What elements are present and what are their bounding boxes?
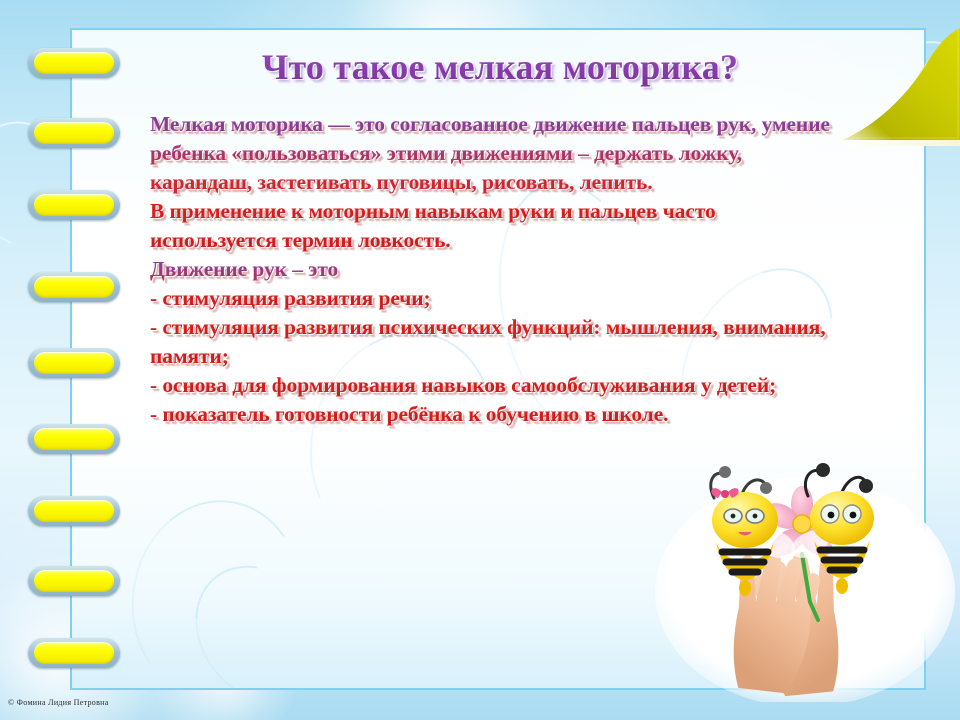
binder-ring-fill: [34, 52, 114, 74]
body-text-block: Мелкая моторика — это согласованное движ…: [150, 110, 830, 429]
binder-ring: [28, 566, 120, 596]
paragraph-definition: Мелкая моторика — это согласованное движ…: [150, 110, 830, 197]
binder-ring: [28, 496, 120, 526]
paragraph-dexterity: В применение к моторным навыкам руки и п…: [150, 197, 830, 255]
binder-ring-fill: [34, 428, 114, 450]
page-title: Что такое мелкая моторика?: [180, 46, 820, 88]
paragraph-bullet-psych: - стимуляция развития психических функци…: [150, 313, 830, 371]
binder-ring: [28, 272, 120, 302]
slide-canvas: Что такое мелкая моторика? Мелкая мотори…: [0, 0, 960, 720]
binder-ring-fill: [34, 352, 114, 374]
paragraph-bullet-school: - показатель готовности ребёнка к обучен…: [150, 400, 830, 429]
binder-ring-fill: [34, 276, 114, 298]
binder-ring-fill: [34, 642, 114, 664]
binder-ring: [28, 118, 120, 148]
binder-ring: [28, 190, 120, 220]
binder-ring-fill: [34, 570, 114, 592]
paragraph-bullet-selfcare: - основа для формирования навыков самооб…: [150, 371, 830, 400]
binder-ring: [28, 638, 120, 668]
binder-ring: [28, 48, 120, 78]
copyright-label: © Фомина Лидия Петровна: [8, 698, 109, 707]
binder-ring-fill: [34, 500, 114, 522]
paragraph-bullet-speech: - стимуляция развития речи;: [150, 284, 830, 313]
binder-ring: [28, 348, 120, 378]
swirl-decor-icon: [168, 539, 356, 690]
binder-ring-fill: [34, 122, 114, 144]
binder-ring: [28, 424, 120, 454]
paragraph-hand-movement-heading: Движение рук – это: [150, 255, 830, 284]
swirl-decor-icon: [119, 489, 315, 690]
binder-ring-fill: [34, 194, 114, 216]
